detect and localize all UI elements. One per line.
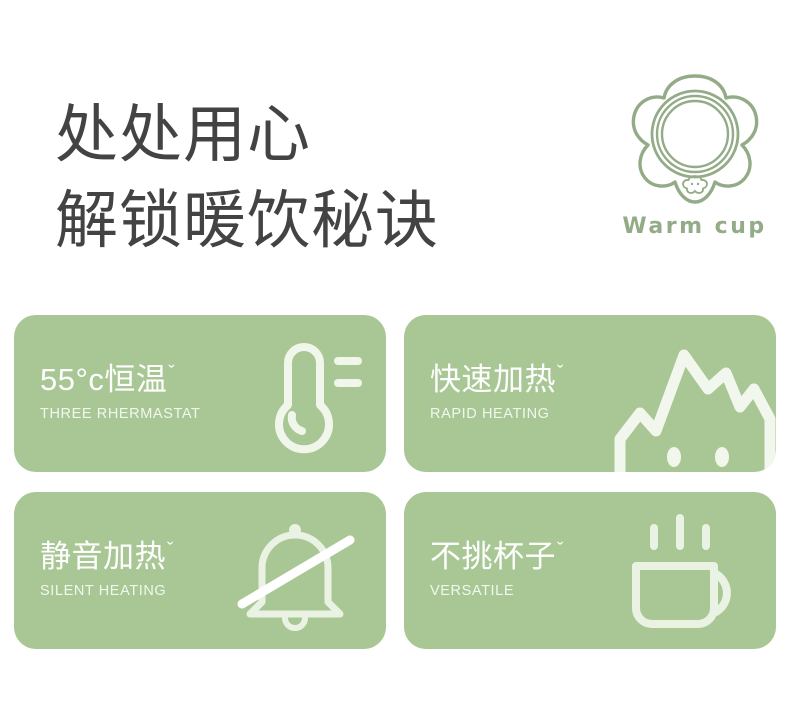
page-title: 处处用心 解锁暖饮秘诀 [55, 92, 439, 264]
card-text-block: 快速加热ˇ RAPID HEATING [430, 357, 564, 422]
card-subtitle: RAPID HEATING [430, 406, 564, 422]
caret-mark: ˇ [557, 363, 564, 384]
card-text-block: 不挑杯子ˇ VERSATILE [430, 534, 564, 599]
card-subtitle: SILENT HEATING [40, 583, 174, 599]
flower-cup-logo-icon [625, 68, 765, 208]
card-title: 不挑杯子ˇ [430, 534, 564, 574]
card-text-block: 静音加热ˇ SILENT HEATING [40, 534, 174, 599]
caret-mark: ˇ [557, 540, 564, 561]
bell-muted-icon [228, 508, 362, 636]
feature-card-grid: 55°c恒温ˇ THREE RHERMASTAT 快速加热ˇ RAPID HEA… [14, 315, 776, 650]
feature-card-thermostat[interactable]: 55°c恒温ˇ THREE RHERMASTAT [14, 315, 386, 472]
mug-steam-icon [624, 508, 748, 634]
card-title: 静音加热ˇ [40, 534, 174, 574]
card-title-text: 快速加热 [430, 362, 556, 397]
brand-name: Warm cup [612, 214, 777, 239]
feature-card-versatile[interactable]: 不挑杯子ˇ VERSATILE [404, 492, 776, 649]
flame-icon [612, 327, 776, 472]
product-feature-page: 处处用心 解锁暖饮秘诀 Warm cup 55°c恒温ˇ [0, 0, 790, 714]
card-title: 55°c恒温ˇ [40, 357, 201, 397]
card-title-text: 55°c恒温 [40, 362, 167, 397]
card-subtitle: THREE RHERMASTAT [40, 406, 201, 422]
headline-line-2: 解锁暖饮秘诀 [55, 178, 439, 264]
headline-line-1: 处处用心 [55, 92, 439, 178]
page-header: 处处用心 解锁暖饮秘诀 Warm cup [0, 0, 790, 300]
feature-card-silent-heating[interactable]: 静音加热ˇ SILENT HEATING [14, 492, 386, 649]
card-title-text: 不挑杯子 [430, 539, 556, 574]
caret-mark: ˇ [168, 363, 175, 384]
thermometer-icon [246, 331, 366, 457]
feature-card-rapid-heating[interactable]: 快速加热ˇ RAPID HEATING [404, 315, 776, 472]
card-title-text: 静音加热 [40, 539, 166, 574]
brand-logo: Warm cup [612, 68, 777, 263]
caret-mark: ˇ [167, 540, 174, 561]
card-subtitle: VERSATILE [430, 583, 564, 599]
card-text-block: 55°c恒温ˇ THREE RHERMASTAT [40, 357, 201, 422]
card-title: 快速加热ˇ [430, 357, 564, 397]
